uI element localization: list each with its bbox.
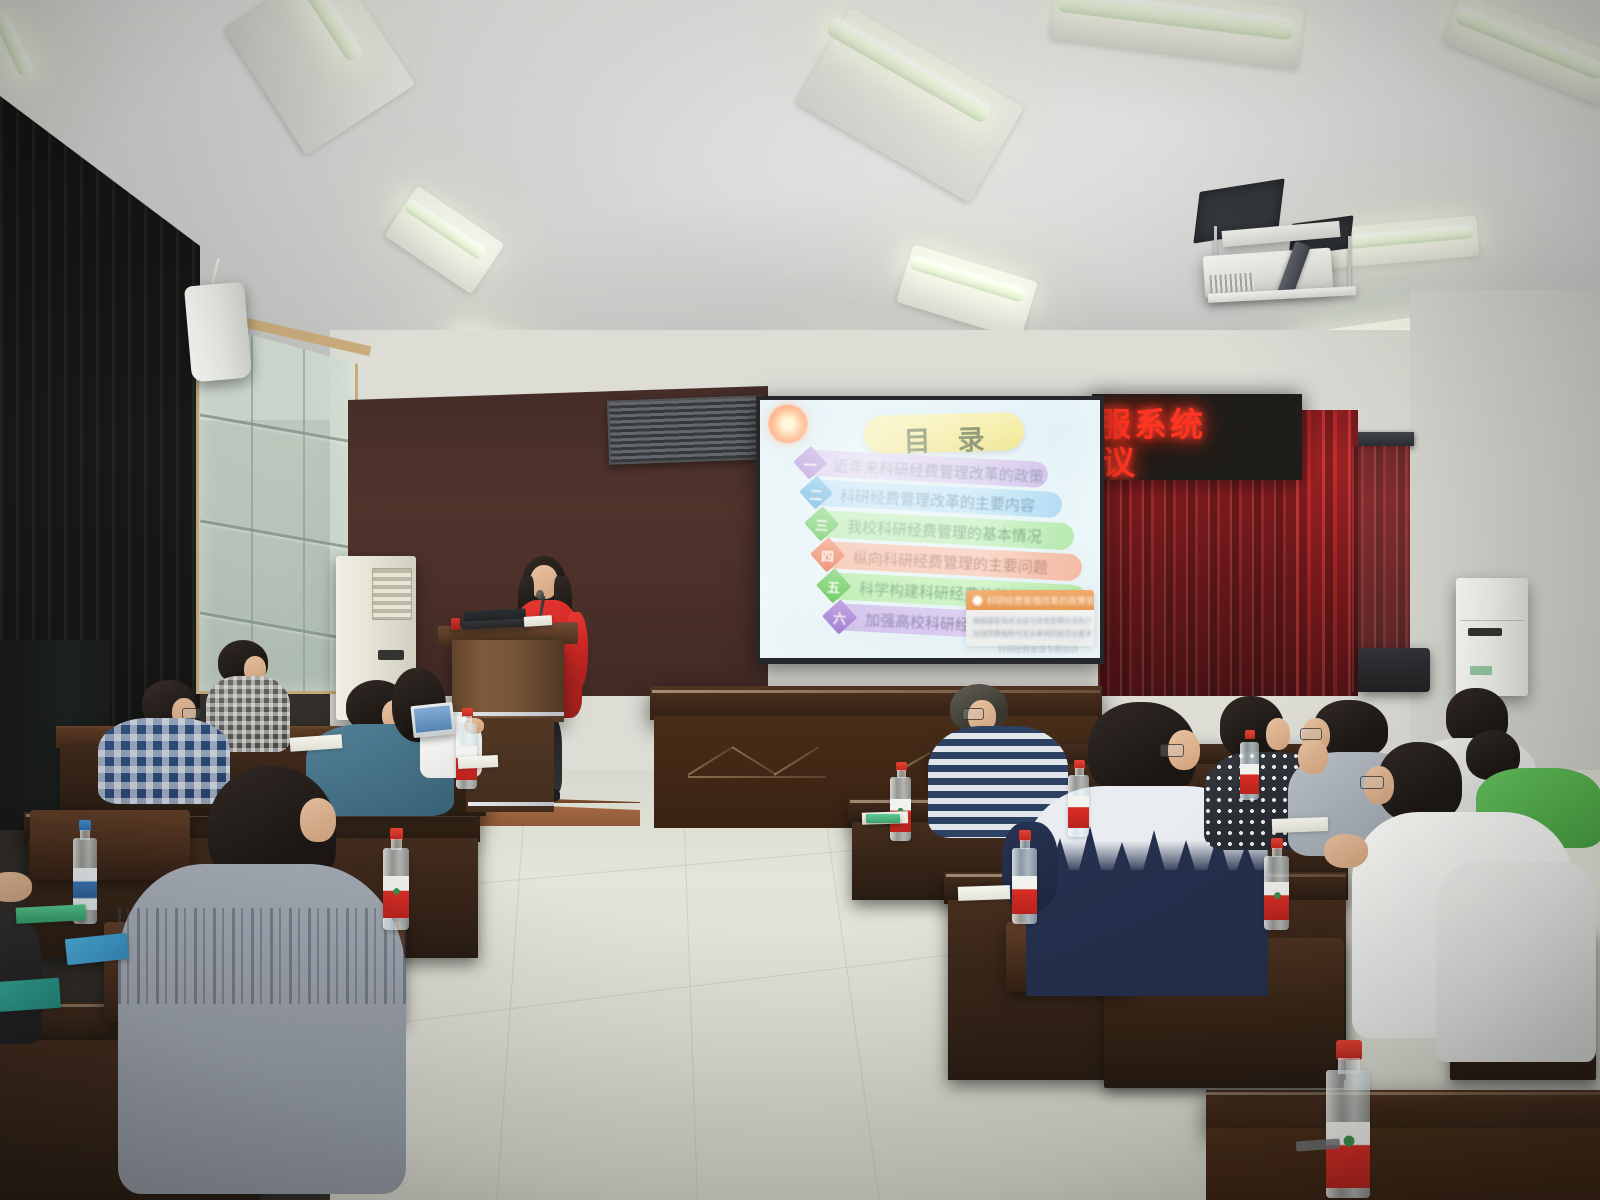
toc-num-2: 二 xyxy=(807,484,826,504)
ac-right-logo xyxy=(1470,666,1492,675)
toc-num-3: 三 xyxy=(812,515,832,535)
bottle-right-3-cap xyxy=(1245,730,1255,739)
water-bottle-right-3 xyxy=(1240,730,1260,802)
bottle-right-3-label xyxy=(1240,764,1259,794)
projection-screen: 目 录 一 近年来科研经费管理改革的政策 二 科研经费管理改革的主要内容 三 我… xyxy=(760,400,1100,658)
bottle-foreground-cap xyxy=(1336,1040,1362,1060)
podium-papers xyxy=(524,615,553,627)
person-white-shirt-hand xyxy=(1324,834,1368,868)
podium-microphone-head xyxy=(536,590,544,600)
slide-callout-box: 科研经费管理改革的政策依据 根据国家相关法规与财务管理办法执行 加强预算编制与支… xyxy=(966,590,1094,646)
bottle-left-2-logo xyxy=(391,886,402,897)
water-bottle-right-5 xyxy=(1012,830,1038,926)
bottle-right-4-label xyxy=(1264,882,1289,920)
person-pine-glasses xyxy=(1160,744,1184,757)
desk-chevron-relief-1 xyxy=(688,744,848,784)
person-gray-knit-top xyxy=(118,864,406,1194)
led-message-sign: 服系统 议 xyxy=(1092,394,1302,480)
person-white-shirt-glasses xyxy=(1360,776,1384,789)
projector-vent xyxy=(1209,272,1254,293)
cabinet-mullion-2 xyxy=(303,339,305,691)
red-curtain-back xyxy=(1098,444,1328,696)
led-sign-line-2: 议 xyxy=(1102,436,1138,480)
person-lt-shirt-top xyxy=(1436,862,1596,1062)
desk-right-foreground-panel xyxy=(1206,1128,1600,1200)
notebook-teal-left xyxy=(0,978,61,1013)
podium-red-device xyxy=(451,618,460,630)
notebook-green-right xyxy=(866,814,900,823)
person-gray-knit-head xyxy=(300,798,336,842)
ac-left-panel xyxy=(378,650,404,660)
water-bottle-right-1 xyxy=(890,762,912,842)
person-edge-left-hand xyxy=(0,872,32,902)
cabinet-mullion-1 xyxy=(251,327,253,691)
cabinet-shelf-1 xyxy=(200,413,354,443)
ac-right-seam xyxy=(1460,620,1524,621)
person-gray-sweat-hands xyxy=(1298,740,1328,774)
water-bottle-left-3 xyxy=(456,708,478,790)
podium-stripe-lower xyxy=(468,802,554,806)
wall-speaker xyxy=(184,282,252,383)
water-bottle-left-2 xyxy=(382,828,410,932)
callout-info-icon xyxy=(972,595,983,606)
person-gray-sweat-glasses xyxy=(1300,728,1322,740)
audience-laptop-left-screen xyxy=(414,705,452,733)
cabinet-shelf-3 xyxy=(200,611,354,641)
papers-left-2 xyxy=(458,755,499,769)
water-bottle-right-4 xyxy=(1264,838,1290,932)
callout-heading: 科研经费管理改革的政策依据 xyxy=(987,594,1094,607)
projector-support-rod-right xyxy=(1348,236,1351,292)
person-gray-knit-pattern xyxy=(118,908,406,1004)
lecture-hall-photo: 服系统 议 目 录 一 近年来科研经费管理改革的政策 二 科研经费管理改革的主要… xyxy=(0,0,1600,1200)
water-bottle-right-2 xyxy=(1068,760,1090,838)
water-bottle-foreground xyxy=(1324,1040,1372,1200)
wall-vent-grille xyxy=(607,395,765,464)
toc-num-5: 五 xyxy=(824,577,844,597)
bottle-foreground-logo xyxy=(1340,1132,1358,1150)
ac-right-panel xyxy=(1468,628,1502,636)
bottle-right-4-logo xyxy=(1272,890,1283,901)
bottle-right-2-label xyxy=(1068,796,1089,828)
cabinet-shelf-2 xyxy=(200,519,354,549)
audience-person-lt-shirt xyxy=(1436,862,1600,1082)
slide-sun-decoration xyxy=(768,404,808,444)
air-conditioner-right xyxy=(1456,578,1528,696)
toc-num-6: 六 xyxy=(830,608,850,628)
bottle-right-5-label xyxy=(1012,876,1037,914)
papers-right-3 xyxy=(1272,817,1328,833)
person-polka-head xyxy=(1266,718,1290,750)
papers-right-2 xyxy=(958,885,1010,901)
bottle-left-2-label xyxy=(383,876,409,918)
desk-right-fg-highlight xyxy=(1206,1092,1600,1095)
callout-body-line-1: 根据国家相关法规与财务管理办法执行 xyxy=(973,616,1092,626)
toc-num-4: 四 xyxy=(818,546,838,566)
side-chair xyxy=(1358,648,1430,692)
audience-person-gray-knit xyxy=(118,766,408,1200)
audience-laptop-left xyxy=(410,702,455,738)
toc-num-1: 一 xyxy=(801,454,820,474)
callout-body-line-2: 加强预算编制与支出审核的规范化要求 xyxy=(973,629,1092,639)
red-curtain-front xyxy=(1296,410,1358,696)
slide-footer-text: 科研经费管理专题培训 xyxy=(998,644,1078,655)
person-stripe-glasses xyxy=(962,708,984,720)
ac-left-vent xyxy=(372,568,412,620)
